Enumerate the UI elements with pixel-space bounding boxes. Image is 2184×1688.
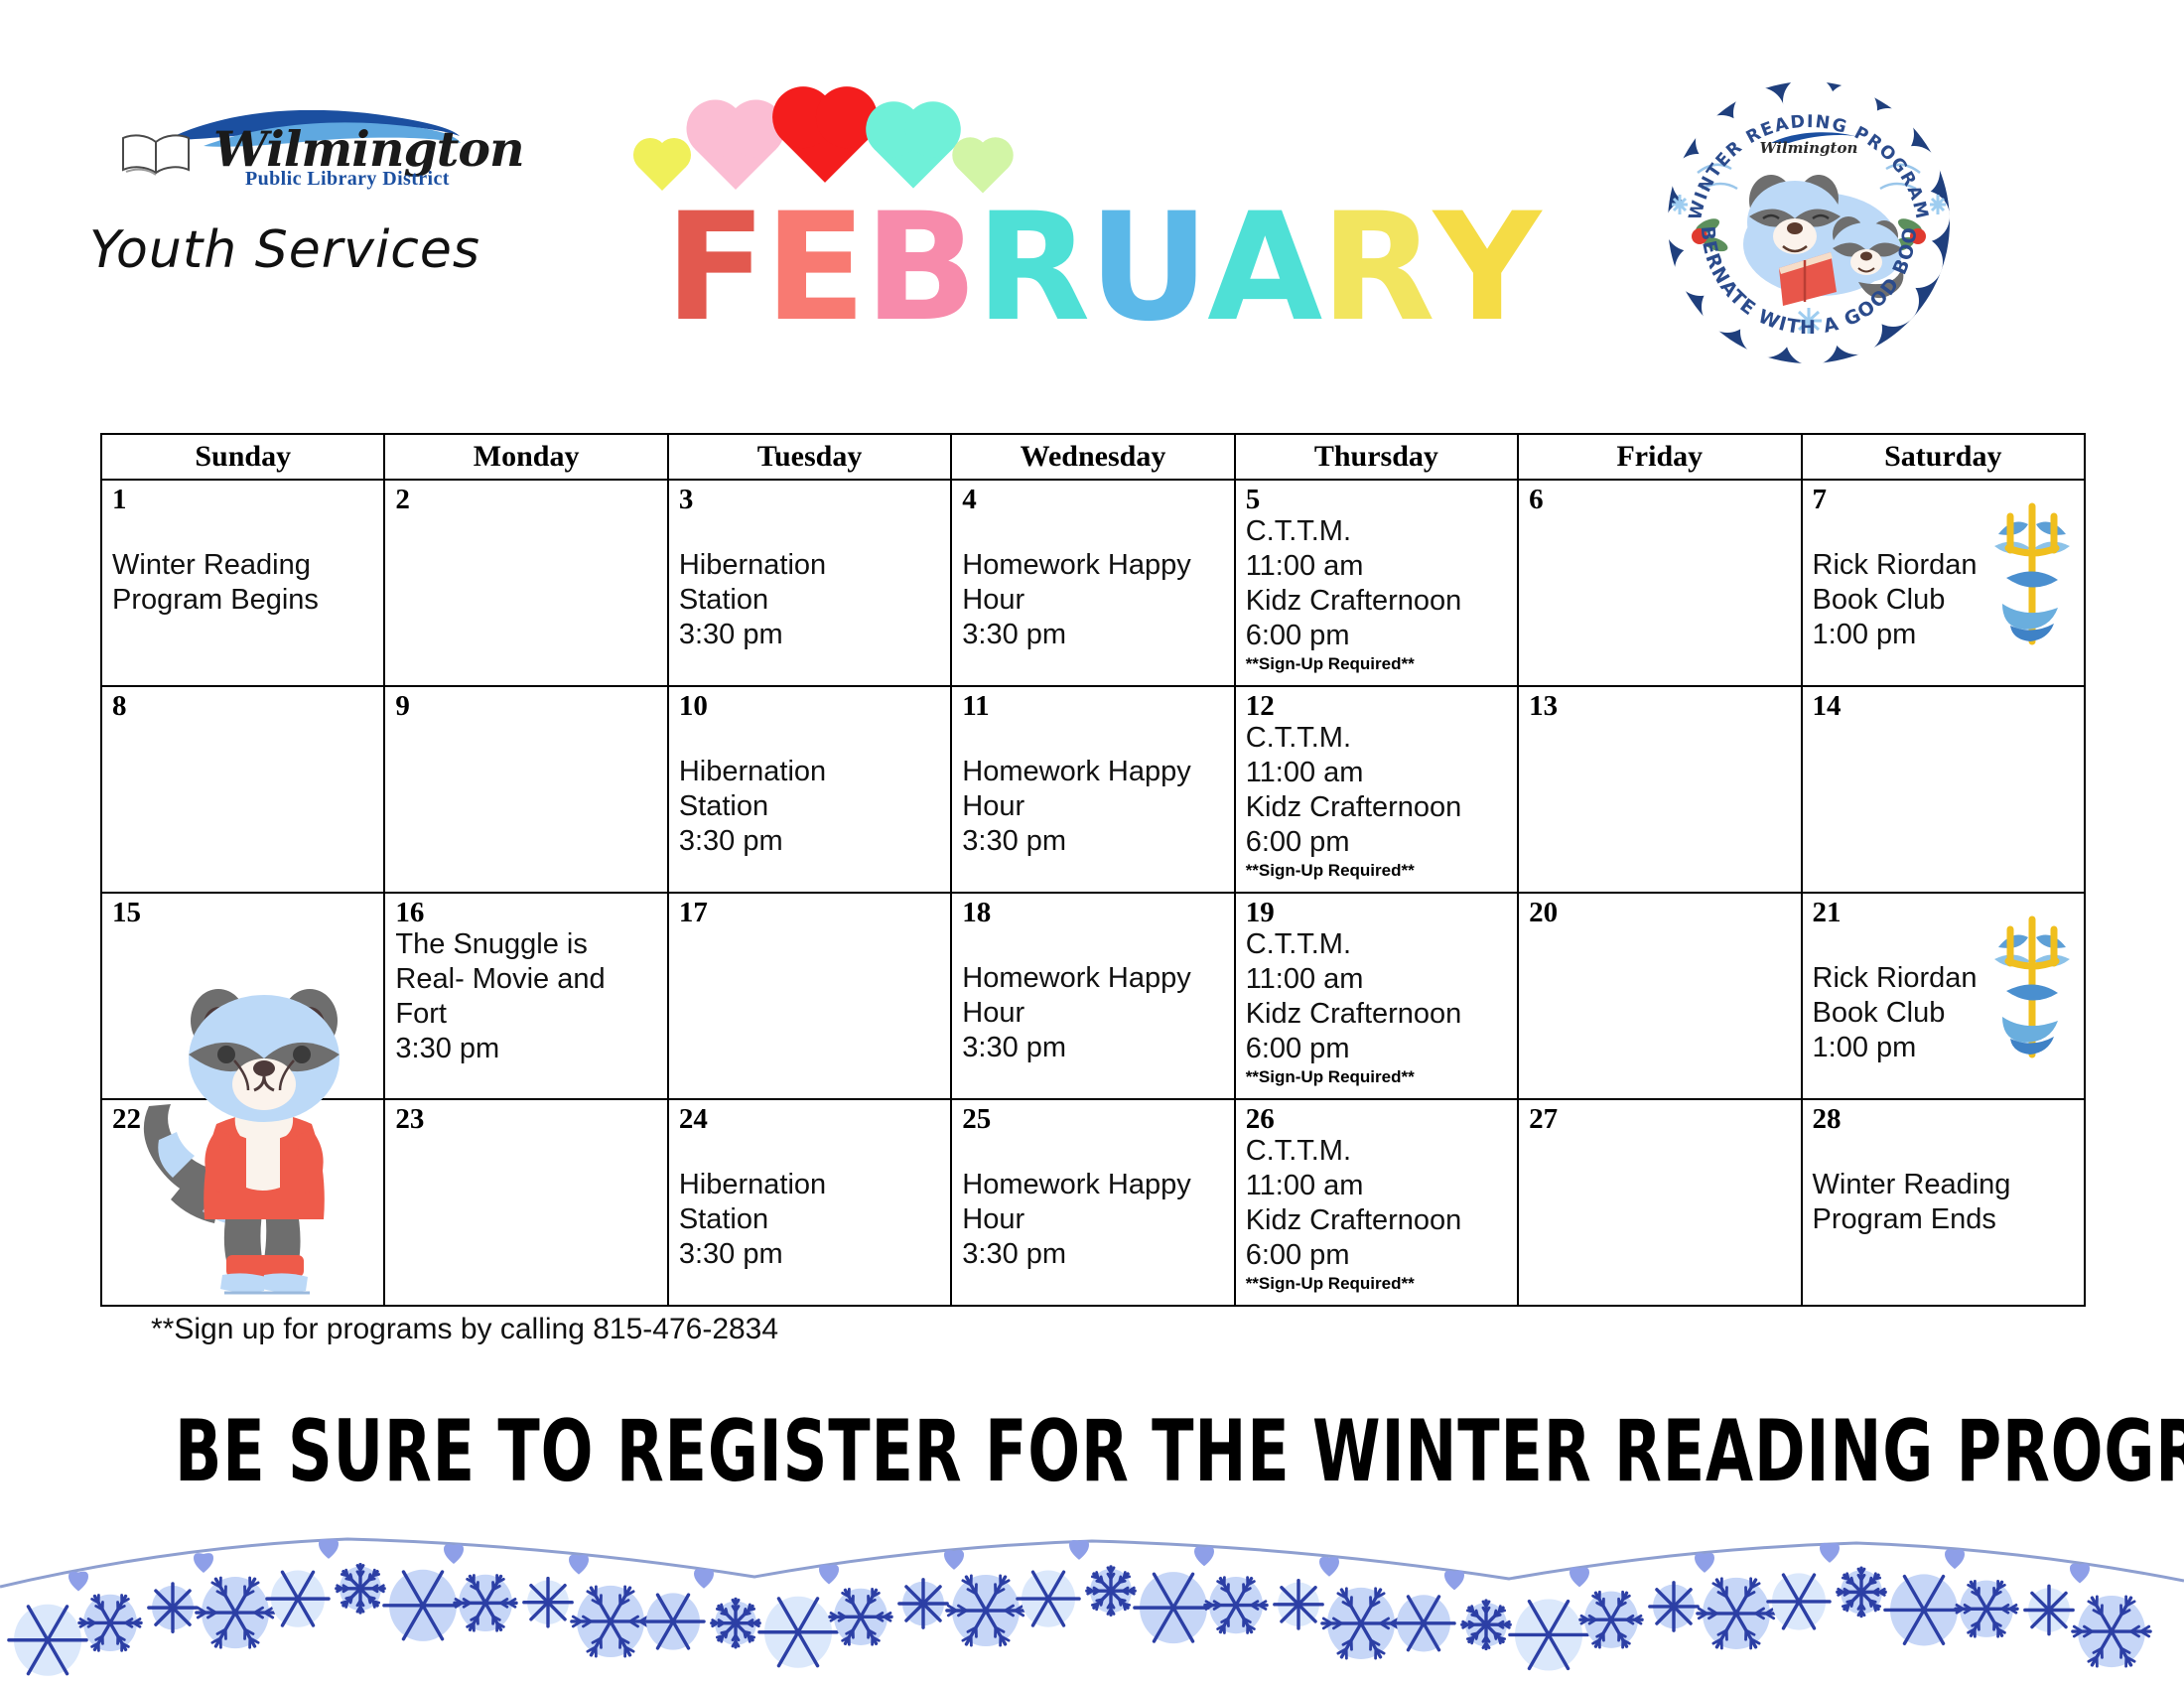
event-line: Hibernation <box>679 755 944 789</box>
garland-heart-icon <box>2070 1564 2090 1584</box>
event-line: Hour <box>962 1202 1227 1237</box>
signup-note: **Sign up for programs by calling 815-47… <box>151 1313 778 1346</box>
calendar-day-cell-10[interactable]: 10HibernationStation3:30 pm <box>668 686 951 893</box>
weekday-header-thursday: Thursday <box>1235 434 1518 480</box>
calendar-day-cell-24[interactable]: 24HibernationStation3:30 pm <box>668 1099 951 1306</box>
signup-required-note: **Sign-Up Required** <box>1246 1067 1511 1087</box>
day-events: Homework HappyHour3:30 pm <box>952 514 1233 652</box>
snowflake-icon <box>149 1584 197 1631</box>
open-book-icon <box>120 132 192 178</box>
snowflake-icon <box>1838 1568 1885 1616</box>
day-number: 9 <box>385 687 666 721</box>
event-line: Kidz Crafternoon <box>1246 584 1511 619</box>
heart-decorations <box>635 94 1569 194</box>
garland-heart-icon <box>1820 1543 1840 1563</box>
heart-icon-4 <box>958 143 1009 194</box>
day-number: 24 <box>669 1100 950 1134</box>
event-line: 3:30 pm <box>962 1031 1227 1065</box>
garland-heart-icon <box>444 1544 464 1564</box>
calendar-day-cell-7[interactable]: 7Rick RiordanBook Club1:00 pm <box>1802 480 2085 686</box>
garland-heart-icon <box>319 1539 339 1559</box>
day-number: 19 <box>1236 894 1517 927</box>
calendar-day-cell-20[interactable]: 20 <box>1518 893 1801 1099</box>
raccoon-mascot-icon <box>107 955 415 1303</box>
month-banner: FEBRUARY <box>635 94 1569 343</box>
day-events: C.T.T.M.11:00 amKidz Crafternoon6:00 pm*… <box>1236 927 1517 1087</box>
page-header: Wilmington Public Library District Youth… <box>0 0 2184 417</box>
calendar-day-cell-26[interactable]: 26C.T.T.M.11:00 amKidz Crafternoon6:00 p… <box>1235 1099 1518 1306</box>
snowflake-icon <box>2025 1586 2073 1633</box>
calendar-day-cell-28[interactable]: 28Winter ReadingProgram Ends <box>1802 1099 2085 1306</box>
event-line: Kidz Crafternoon <box>1246 997 1511 1032</box>
calendar-day-cell-13[interactable]: 13 <box>1518 686 1801 893</box>
calendar-day-cell-23[interactable]: 23 <box>384 1099 667 1306</box>
calendar-day-cell-1[interactable]: 1Winter ReadingProgram Begins <box>101 480 384 686</box>
signup-required-note: **Sign-Up Required** <box>1246 654 1511 674</box>
weekday-header-row: SundayMondayTuesdayWednesdayThursdayFrid… <box>101 434 2085 480</box>
event-line: Real- Movie and <box>395 962 660 997</box>
event-line: C.T.T.M. <box>1246 721 1511 756</box>
garland-heart-icon <box>1570 1567 1589 1587</box>
calendar-day-cell-18[interactable]: 18Homework HappyHour3:30 pm <box>951 893 1234 1099</box>
snowflake-icon <box>1087 1567 1135 1615</box>
month-letter-0: F <box>665 194 764 343</box>
event-line: Station <box>679 583 944 618</box>
weekday-header-tuesday: Tuesday <box>668 434 951 480</box>
event-line: 3:30 pm <box>962 824 1227 859</box>
event-line: 6:00 pm <box>1246 1238 1511 1273</box>
event-line: Kidz Crafternoon <box>1246 1203 1511 1238</box>
day-events: Homework HappyHour3:30 pm <box>952 1134 1233 1272</box>
calendar-day-cell-5[interactable]: 5C.T.T.M.11:00 amKidz Crafternoon6:00 pm… <box>1235 480 1518 686</box>
event-line: Hibernation <box>679 548 944 583</box>
garland-heart-icon <box>68 1572 88 1592</box>
event-line: 6:00 pm <box>1246 1032 1511 1066</box>
logo-subtitle: Public Library District <box>245 168 450 191</box>
garland-heart-icon <box>694 1569 714 1589</box>
day-number: 18 <box>952 894 1233 927</box>
event-line: C.T.T.M. <box>1246 927 1511 962</box>
badge-center-logo: Wilmington <box>1760 139 1858 157</box>
heart-icon-2 <box>781 95 869 183</box>
garland-heart-icon <box>819 1565 839 1585</box>
event-line: Kidz Crafternoon <box>1246 790 1511 825</box>
day-number: 8 <box>102 687 383 721</box>
event-line: C.T.T.M. <box>1246 514 1511 549</box>
event-line: Program Begins <box>112 583 377 618</box>
signup-required-note: **Sign-Up Required** <box>1246 861 1511 881</box>
calendar-day-cell-3[interactable]: 3HibernationStation3:30 pm <box>668 480 951 686</box>
calendar-day-cell-4[interactable]: 4Homework HappyHour3:30 pm <box>951 480 1234 686</box>
day-number: 17 <box>669 894 950 927</box>
event-line: C.T.T.M. <box>1246 1134 1511 1169</box>
trident-icon <box>1986 500 2078 649</box>
event-line: Program Ends <box>1813 1202 2078 1237</box>
month-letter-5: A <box>1207 194 1320 343</box>
day-number: 6 <box>1519 481 1800 514</box>
day-events: HibernationStation3:30 pm <box>669 1134 950 1272</box>
garland-heart-icon <box>1444 1571 1464 1591</box>
day-events: C.T.T.M.11:00 amKidz Crafternoon6:00 pm*… <box>1236 1134 1517 1294</box>
weekday-header-monday: Monday <box>384 434 667 480</box>
calendar-day-cell-25[interactable]: 25Homework HappyHour3:30 pm <box>951 1099 1234 1306</box>
event-line: Hour <box>962 996 1227 1031</box>
day-number: 25 <box>952 1100 1233 1134</box>
day-events: C.T.T.M.11:00 amKidz Crafternoon6:00 pm*… <box>1236 721 1517 881</box>
trident-icon <box>1986 914 2078 1062</box>
month-letter-4: U <box>1088 194 1207 343</box>
calendar-day-cell-6[interactable]: 6 <box>1518 480 1801 686</box>
day-number: 11 <box>952 687 1233 721</box>
day-number: 1 <box>102 481 383 514</box>
event-line: Homework Happy <box>962 548 1227 583</box>
calendar-day-cell-21[interactable]: 21Rick RiordanBook Club1:00 pm <box>1802 893 2085 1099</box>
day-number: 3 <box>669 481 950 514</box>
garland-heart-icon <box>1695 1553 1714 1573</box>
event-line: 3:30 pm <box>679 824 944 859</box>
garland-heart-icon <box>1069 1540 1089 1560</box>
day-number: 23 <box>385 1100 666 1134</box>
calendar-day-cell-17[interactable]: 17 <box>668 893 951 1099</box>
month-letter-1: E <box>764 194 864 343</box>
snowflake-icon <box>1275 1581 1322 1628</box>
event-line: The Snuggle is <box>395 927 660 962</box>
calendar-day-cell-8[interactable]: 8 <box>101 686 384 893</box>
heart-icon-1 <box>695 108 776 190</box>
garland-heart-icon <box>1319 1557 1339 1577</box>
snowflake-icon <box>899 1580 947 1627</box>
event-line: Hibernation <box>679 1168 944 1202</box>
calendar-day-cell-16[interactable]: 16The Snuggle isReal- Movie andFort3:30 … <box>384 893 667 1099</box>
day-number: 2 <box>385 481 666 514</box>
garland-heart-icon <box>194 1553 213 1573</box>
signup-required-note: **Sign-Up Required** <box>1246 1274 1511 1294</box>
snowflake-icon <box>1650 1583 1698 1630</box>
month-letter-2: B <box>865 194 976 343</box>
winter-reading-program-badge: Wilmington WINTER READING PROGRAM HIBERN… <box>1664 77 1954 367</box>
weekday-header-friday: Friday <box>1518 434 1801 480</box>
month-letter-3: R <box>976 194 1089 343</box>
day-number: 26 <box>1236 1100 1517 1134</box>
heart-icon-3 <box>874 109 952 188</box>
snowflake-garland <box>0 1525 2184 1688</box>
event-line: 3:30 pm <box>395 1032 660 1066</box>
day-events: HibernationStation3:30 pm <box>669 514 950 652</box>
snowflake-icon <box>337 1565 384 1613</box>
weekday-header-wednesday: Wednesday <box>951 434 1234 480</box>
day-events: Winter ReadingProgram Begins <box>102 514 383 618</box>
event-line: 11:00 am <box>1246 962 1511 997</box>
event-line: 11:00 am <box>1246 549 1511 584</box>
day-events: HibernationStation3:30 pm <box>669 721 950 859</box>
event-line: Hour <box>962 789 1227 824</box>
event-line: Homework Happy <box>962 1168 1227 1202</box>
calendar-day-cell-19[interactable]: 19C.T.T.M.11:00 amKidz Crafternoon6:00 p… <box>1235 893 1518 1099</box>
garland-heart-icon <box>944 1550 964 1570</box>
day-events: C.T.T.M.11:00 amKidz Crafternoon6:00 pm*… <box>1236 514 1517 674</box>
event-line: Fort <box>395 997 660 1032</box>
event-line: 6:00 pm <box>1246 825 1511 860</box>
day-events: Homework HappyHour3:30 pm <box>952 721 1233 859</box>
day-number: 20 <box>1519 894 1800 927</box>
event-line: Homework Happy <box>962 961 1227 996</box>
snowflake-icon <box>524 1579 572 1626</box>
library-logo: Wilmington Public Library District <box>104 104 462 196</box>
event-line: 11:00 am <box>1246 756 1511 790</box>
weekday-header-sunday: Sunday <box>101 434 384 480</box>
event-line: Station <box>679 1202 944 1237</box>
day-number: 10 <box>669 687 950 721</box>
garland-heart-icon <box>1945 1549 1965 1569</box>
day-number: 5 <box>1236 481 1517 514</box>
event-line: Hour <box>962 583 1227 618</box>
snowflake-icon <box>712 1600 759 1647</box>
event-line: 6:00 pm <box>1246 619 1511 653</box>
day-number: 13 <box>1519 687 1800 721</box>
event-line: Homework Happy <box>962 755 1227 789</box>
heart-icon-0 <box>638 143 686 191</box>
garland-heart-icon <box>569 1555 589 1575</box>
event-line: Winter Reading <box>1813 1168 2078 1202</box>
day-events: Homework HappyHour3:30 pm <box>952 927 1233 1065</box>
event-line: 3:30 pm <box>962 1237 1227 1272</box>
garland-heart-icon <box>1194 1546 1214 1566</box>
day-number: 14 <box>1803 687 2084 721</box>
event-line: 3:30 pm <box>962 618 1227 652</box>
department-title: Youth Services <box>89 220 480 280</box>
calendar-day-cell-11[interactable]: 11Homework HappyHour3:30 pm <box>951 686 1234 893</box>
day-number: 28 <box>1803 1100 2084 1134</box>
calendar-day-cell-12[interactable]: 12C.T.T.M.11:00 amKidz Crafternoon6:00 p… <box>1235 686 1518 893</box>
calendar-day-cell-9[interactable]: 9 <box>384 686 667 893</box>
snowflake-icon <box>1462 1601 1510 1648</box>
day-number: 16 <box>385 894 666 927</box>
month-letter-6: R <box>1320 194 1433 343</box>
event-line: 3:30 pm <box>679 618 944 652</box>
calendar-week-row: 8910HibernationStation3:30 pm11Homework … <box>101 686 2085 893</box>
event-line: Winter Reading <box>112 548 377 583</box>
page-title: FEBRUARY <box>635 194 1569 343</box>
day-number: 27 <box>1519 1100 1800 1134</box>
event-line: Station <box>679 789 944 824</box>
calendar-day-cell-14[interactable]: 14 <box>1802 686 2085 893</box>
month-letter-7: Y <box>1433 194 1540 343</box>
calendar-day-cell-2[interactable]: 2 <box>384 480 667 686</box>
day-number: 15 <box>102 894 383 927</box>
event-line: 11:00 am <box>1246 1169 1511 1203</box>
day-number: 4 <box>952 481 1233 514</box>
day-events: The Snuggle isReal- Movie andFort3:30 pm <box>385 927 666 1066</box>
day-events: Winter ReadingProgram Ends <box>1803 1134 2084 1237</box>
register-banner: BE SURE TO REGISTER FOR THE WINTER READI… <box>175 1402 2009 1501</box>
event-line: 3:30 pm <box>679 1237 944 1272</box>
weekday-header-saturday: Saturday <box>1802 434 2085 480</box>
calendar-day-cell-27[interactable]: 27 <box>1518 1099 1801 1306</box>
calendar-week-row: 1Winter ReadingProgram Begins23Hibernati… <box>101 480 2085 686</box>
day-number: 12 <box>1236 687 1517 721</box>
